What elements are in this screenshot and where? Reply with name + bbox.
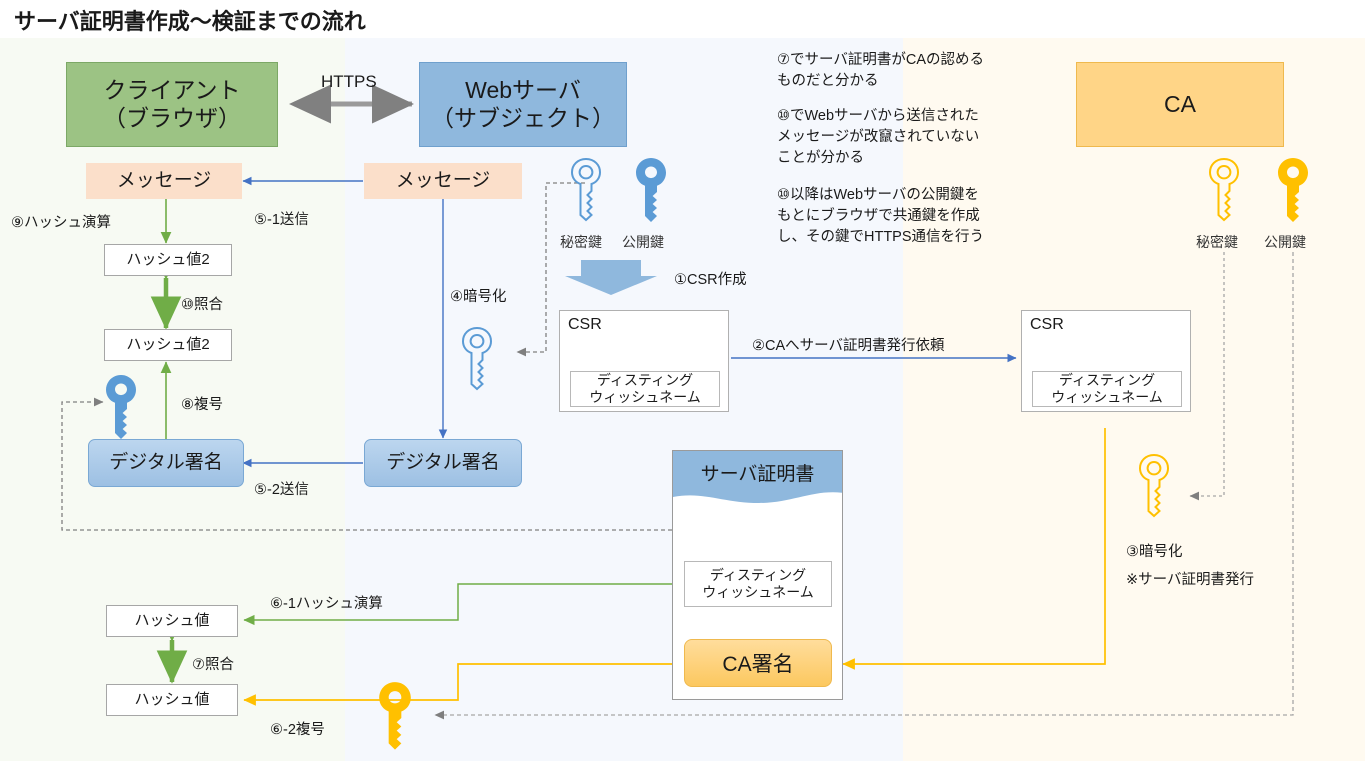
- ca-dn-line-1: ディスティング: [1059, 372, 1155, 390]
- client-box-label-1: クライアント: [103, 77, 240, 104]
- server-dn-line-2: ウィッシュネーム: [589, 389, 701, 407]
- key-solid-icon-server-public: [634, 156, 668, 228]
- ca-dn-line-2: ウィッシュネーム: [1051, 389, 1163, 407]
- step10-match-label: ⑩照合: [181, 293, 223, 314]
- certificate-ca-signature-label: CA署名: [722, 648, 793, 678]
- step6-1-hash-label: ⑥-1ハッシュ演算: [270, 592, 383, 613]
- server-box-label-1: Webサーバ: [465, 77, 581, 104]
- step5-1-send-label: ⑤-1送信: [254, 208, 309, 229]
- step3-encrypt-label: ③暗号化: [1126, 540, 1183, 561]
- ca-box-label: CA: [1164, 91, 1196, 118]
- server-certificate-card[interactable]: サーバ証明書 ディスティング ウィッシュネーム CA署名: [672, 450, 843, 700]
- client-digital-signature-label: デジタル署名: [109, 452, 223, 474]
- note-1: ⑦でサーバ証明書がCAの認める ものだと分かる: [777, 50, 1027, 92]
- step2-request-label: ②CAへサーバ証明書発行依頼: [752, 334, 945, 355]
- step3-note-label: ※サーバ証明書発行: [1126, 568, 1254, 589]
- key-outline-icon-encrypt-step4: [460, 325, 494, 397]
- client-message-label: メッセージ: [117, 170, 212, 192]
- step1-csr-label: ①CSR作成: [674, 268, 747, 289]
- step6-2-decrypt-label: ⑥-2複号: [270, 718, 325, 739]
- client-hash-top-box[interactable]: ハッシュ値: [106, 605, 238, 637]
- key-outline-icon-server-private: [569, 156, 603, 228]
- client-hash-bottom-box[interactable]: ハッシュ値: [106, 684, 238, 716]
- certificate-title: サーバ証明書: [673, 459, 842, 486]
- client-hash2-bottom-box[interactable]: ハッシュ値2: [104, 329, 232, 361]
- step5-2-send-label: ⑤-2送信: [254, 478, 309, 499]
- step7-match-label: ⑦照合: [192, 653, 234, 674]
- client-box-label-2: （ブラウザ）: [103, 105, 241, 132]
- client-hash2-top-box[interactable]: ハッシュ値2: [104, 244, 232, 276]
- server-dn-box[interactable]: ディスティング ウィッシュネーム: [570, 371, 720, 407]
- ca-box[interactable]: CA: [1076, 62, 1284, 147]
- ca-public-key-label: 公開鍵: [1264, 232, 1306, 252]
- client-digital-signature-box[interactable]: デジタル署名: [88, 439, 244, 487]
- diagram-canvas: サーバ証明書作成～検証までの流れ: [0, 0, 1365, 761]
- certificate-dn-box[interactable]: ディスティング ウィッシュネーム: [684, 561, 832, 607]
- step9-hash-label: ⑨ハッシュ演算: [11, 211, 111, 232]
- server-digital-signature-box[interactable]: デジタル署名: [364, 439, 522, 487]
- client-message-box[interactable]: メッセージ: [86, 163, 242, 199]
- server-public-key-label: 公開鍵: [622, 232, 664, 252]
- server-private-key-label: 秘密鍵: [560, 232, 602, 252]
- ca-csr-box[interactable]: CSR ディスティング ウィッシュネーム: [1021, 310, 1191, 412]
- key-outline-icon-encrypt-step3: [1137, 452, 1171, 524]
- step8-decrypt-label: ⑧複号: [181, 393, 223, 414]
- server-csr-label: CSR: [568, 316, 602, 335]
- ca-csr-label: CSR: [1030, 316, 1064, 335]
- server-message-box[interactable]: メッセージ: [364, 163, 522, 199]
- server-csr-box[interactable]: CSR ディスティング ウィッシュネーム: [559, 310, 729, 412]
- server-box[interactable]: Webサーバ （サブジェクト）: [419, 62, 627, 147]
- note-3: ⑩以降はWebサーバの公開鍵を もとにブラウザで共通鍵を作成 し、その鍵でHTT…: [777, 185, 1029, 248]
- client-hash-top-label: ハッシュ値: [134, 612, 209, 630]
- client-hash2-top-label: ハッシュ値2: [126, 251, 209, 269]
- ca-private-key-label: 秘密鍵: [1196, 232, 1238, 252]
- ca-dn-box[interactable]: ディスティング ウィッシュネーム: [1032, 371, 1182, 407]
- client-hash2-bottom-label: ハッシュ値2: [126, 336, 209, 354]
- client-hash-bottom-label: ハッシュ値: [134, 691, 209, 709]
- server-digital-signature-label: デジタル署名: [386, 452, 500, 474]
- certificate-ca-signature-box[interactable]: CA署名: [684, 639, 832, 687]
- page-title: サーバ証明書作成～検証までの流れ: [14, 4, 714, 36]
- certificate-dn-line-1: ディスティング: [710, 567, 806, 585]
- server-box-label-2: （サブジェクト）: [431, 105, 615, 132]
- certificate-dn-line-2: ウィッシュネーム: [702, 584, 814, 602]
- key-solid-icon-ca-public: [1276, 156, 1310, 228]
- step4-encrypt-label: ④暗号化: [450, 285, 507, 306]
- client-box[interactable]: クライアント （ブラウザ）: [66, 62, 278, 147]
- note-2: ⑩でWebサーバから送信された メッセージが改竄されていない ことが分かる: [777, 106, 1027, 169]
- server-message-label: メッセージ: [396, 170, 491, 192]
- key-outline-icon-ca-private: [1207, 156, 1241, 228]
- key-solid-icon-client-ca-public: [377, 680, 413, 756]
- https-label: HTTPS: [321, 72, 377, 92]
- key-solid-icon-client-verify: [104, 372, 138, 446]
- server-dn-line-1: ディスティング: [597, 372, 693, 390]
